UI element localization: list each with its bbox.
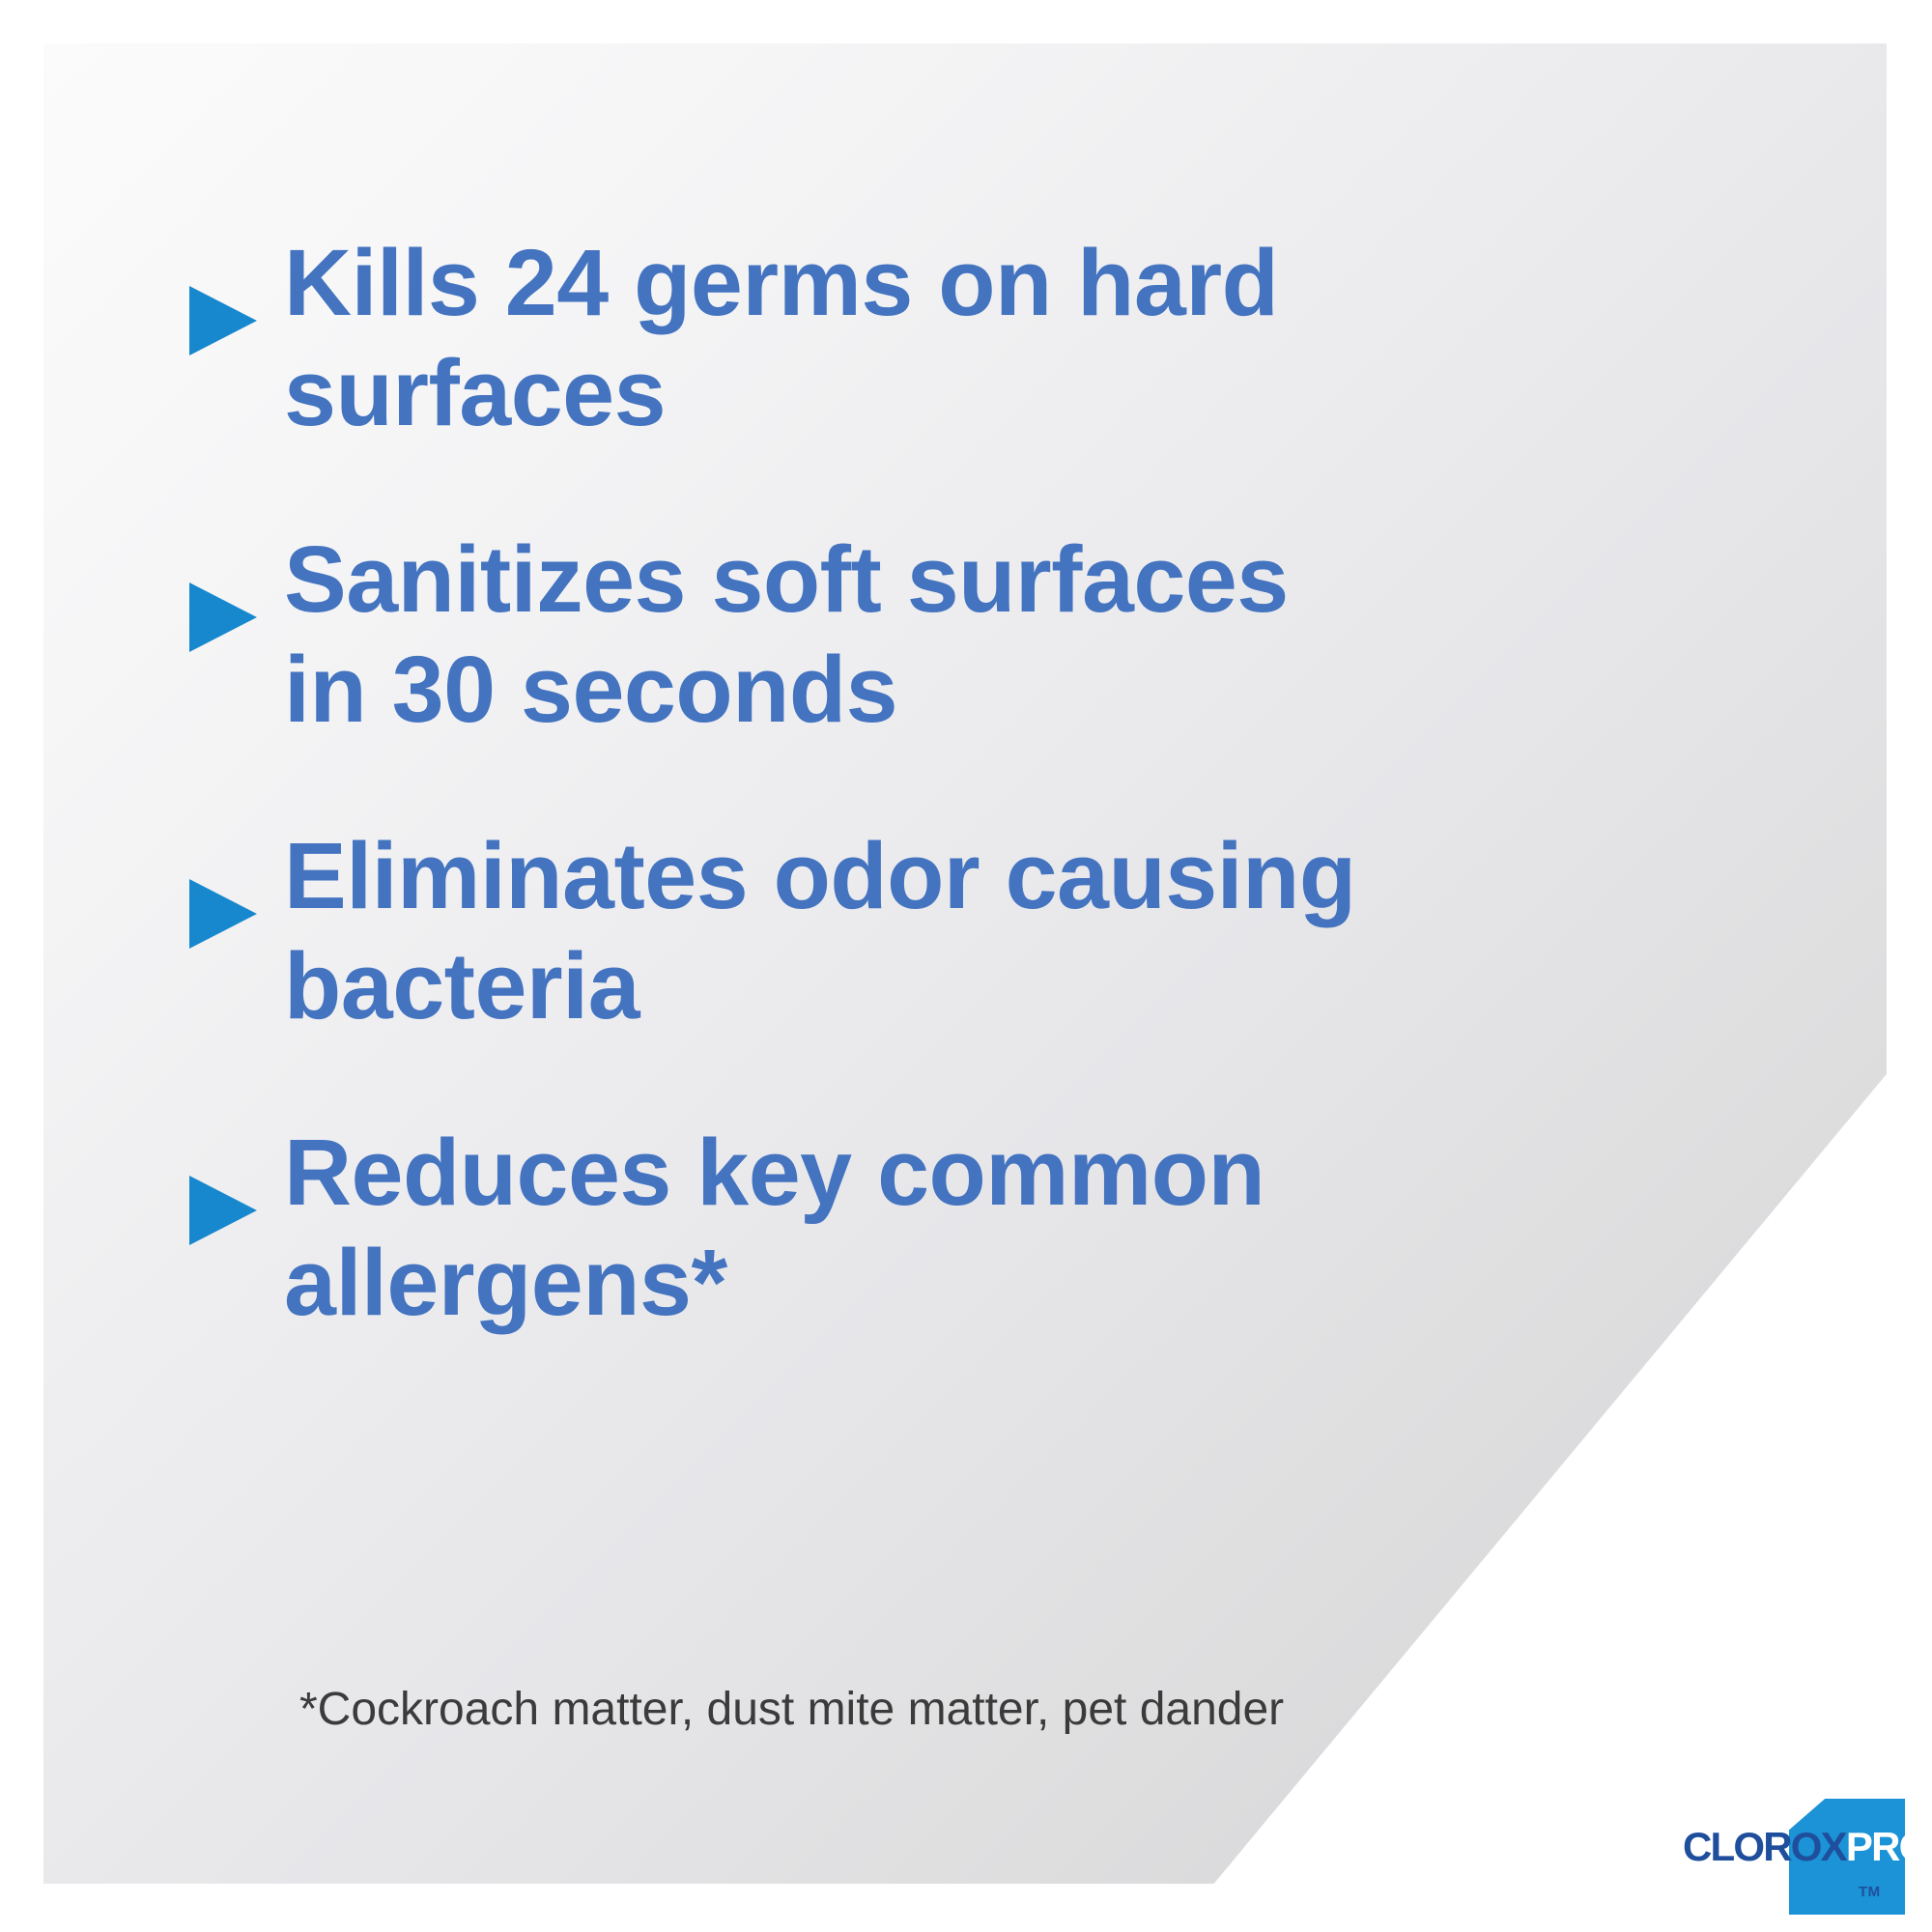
bullet-text: Eliminates odor causing bacteria [284,821,1356,1042]
triangle-right-icon [189,1176,257,1245]
logo-trademark-symbol: TM [1859,1884,1881,1900]
footnote-disclaimer: *Cockroach matter, dust mite matter, pet… [299,1683,1284,1736]
cloroxpro-logo: CLOROXPRO TM [1683,1799,1905,1924]
promo-card-canvas: Kills 24 germs on hard surfaces Sanitize… [0,0,1932,1932]
bullet-text: Sanitizes soft surfaces in 30 seconds [284,525,1289,746]
list-item: Reduces key common allergens* [189,1118,1774,1339]
triangle-right-icon [189,286,257,355]
logo-brand-text: CLOROX [1683,1827,1846,1867]
list-item: Eliminates odor causing bacteria [189,821,1774,1042]
list-item: Kills 24 germs on hard surfaces [189,228,1774,449]
bullet-text: Kills 24 germs on hard surfaces [284,228,1278,449]
triangle-right-icon [189,582,257,652]
logo-wordmark: CLOROXPRO [1683,1826,1929,1868]
logo-suffix-text: PRO [1846,1827,1929,1867]
benefit-bullet-list: Kills 24 germs on hard surfaces Sanitize… [189,228,1774,1339]
list-item: Sanitizes soft surfaces in 30 seconds [189,525,1774,746]
triangle-right-icon [189,879,257,949]
bullet-text: Reduces key common allergens* [284,1118,1264,1339]
